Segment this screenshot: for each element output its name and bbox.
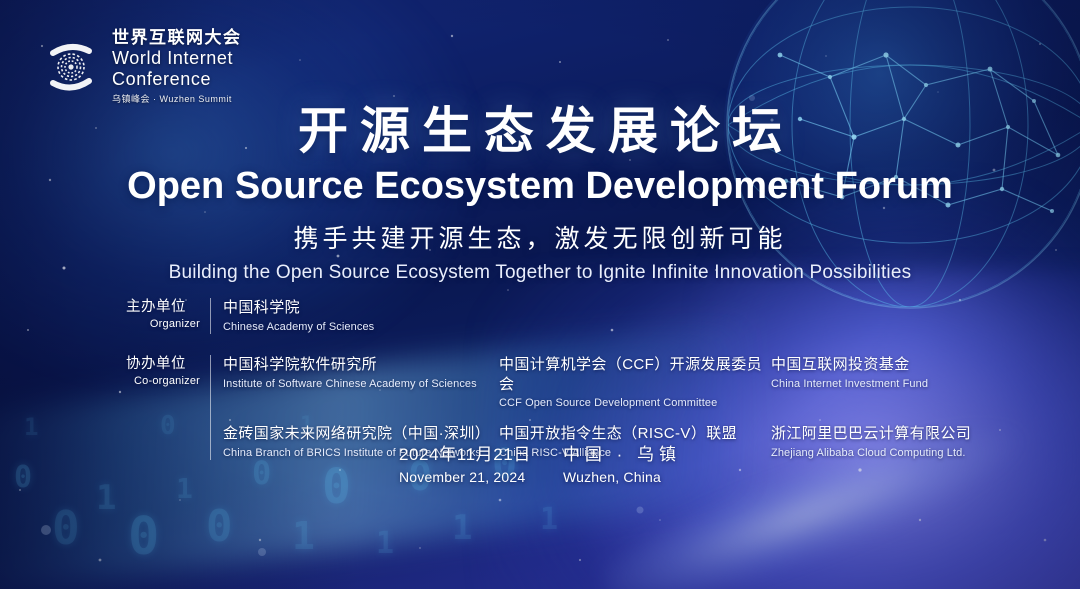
event-date-cn: 2024年11月21日 — [399, 444, 531, 465]
event-footer: 2024年11月21日 November 21, 2024 中国 · 乌镇 Wu… — [0, 444, 1080, 486]
credit-org-cn: 浙江阿里巴巴云计算有限公司 — [771, 424, 971, 444]
credit-org-cn: 中国计算机学会（CCF）开源发展委员会 — [499, 355, 771, 394]
credit-role-cn: 主办单位 — [126, 298, 202, 316]
event-date-en: November 21, 2024 — [399, 468, 531, 486]
credit-org-en: Chinese Academy of Sciences — [223, 320, 499, 334]
credit-divider — [210, 298, 211, 334]
conference-logo-text: 世界互联网大会 World Internet Conference 乌镇峰会 ·… — [112, 28, 242, 105]
logo-title-cn: 世界互联网大会 — [112, 28, 242, 48]
credit-org-en: China Internet Investment Fund — [771, 377, 928, 391]
credit-role-cn: 协办单位 — [126, 355, 202, 373]
event-location-cn: 中国 · 乌镇 — [563, 444, 681, 465]
credit-org: 中国科学院 Chinese Academy of Sciences — [223, 298, 499, 334]
logo-title-en-line2: Conference — [112, 69, 242, 90]
conference-logo[interactable]: 世界互联网大会 World Internet Conference 乌镇峰会 ·… — [40, 28, 242, 105]
logo-title-en-line1: World Internet — [112, 48, 242, 69]
credit-row-organizer: 主办单位 Organizer 中国科学院 Chinese Academy of … — [126, 298, 986, 334]
credit-org-cn: 金砖国家未来网络研究院（中国·深圳） — [223, 424, 499, 444]
tagline-en: Building the Open Source Ecosystem Toget… — [0, 262, 1080, 285]
credit-organizations-organizer: 中国科学院 Chinese Academy of Sciences — [223, 298, 986, 334]
event-location: 中国 · 乌镇 Wuzhen, China — [563, 444, 681, 486]
credit-org: 中国科学院软件研究所 Institute of Software Chinese… — [223, 355, 499, 410]
credit-org-cn: 中国互联网投资基金 — [771, 355, 928, 375]
credit-org-line: 中国科学院 Chinese Academy of Sciences — [223, 298, 986, 334]
page-title-en: Open Source Ecosystem Development Forum — [0, 165, 1080, 208]
credits-block: 主办单位 Organizer 中国科学院 Chinese Academy of … — [126, 298, 986, 460]
credit-role-organizer: 主办单位 Organizer — [126, 298, 210, 331]
credit-org-en: Institute of Software Chinese Academy of… — [223, 377, 499, 391]
wuzhen-summit-circle-icon — [40, 36, 102, 98]
tagline-cn: 携手共建开源生态，激发无限创新可能 — [0, 224, 1080, 254]
credit-role-en: Co-organizer — [126, 374, 202, 388]
credit-role-en: Organizer — [126, 317, 202, 331]
credit-org-cn: 中国开放指令生态（RISC-V）联盟 — [499, 424, 771, 444]
credit-org: 中国计算机学会（CCF）开源发展委员会 CCF Open Source Deve… — [499, 355, 771, 410]
credit-role-co-organizer: 协办单位 Co-organizer — [126, 355, 210, 388]
credit-org-cn: 中国科学院软件研究所 — [223, 355, 499, 375]
credit-org-line: 中国科学院软件研究所 Institute of Software Chinese… — [223, 355, 986, 410]
credit-org: 中国互联网投资基金 China Internet Investment Fund — [771, 355, 928, 410]
credit-org-en: CCF Open Source Development Committee — [499, 396, 771, 410]
event-date: 2024年11月21日 November 21, 2024 — [399, 444, 531, 486]
headline-block: 开源生态发展论坛 Open Source Ecosystem Developme… — [0, 104, 1080, 284]
credit-org-cn: 中国科学院 — [223, 298, 499, 318]
forum-poster: 0 0 1 0 1 0 0 1 0 1 0 1 0 1 1 0 1 — [0, 0, 1080, 589]
page-title-cn: 开源生态发展论坛 — [0, 104, 1080, 159]
event-location-en: Wuzhen, China — [563, 468, 681, 486]
